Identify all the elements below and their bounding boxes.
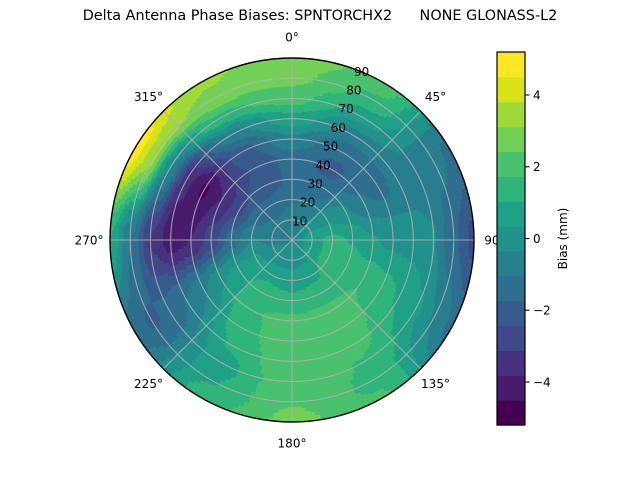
radial-tick-label-90: 90	[354, 65, 369, 79]
radial-tick-label-70: 70	[339, 102, 354, 116]
colorbar-tick-3: 2	[533, 160, 541, 174]
radial-tick-label-30: 30	[308, 177, 323, 191]
figure-canvas: Delta Antenna Phase Biases: SPNTORCHX2 N…	[0, 0, 640, 480]
colorbar-label: Bias (mm)	[556, 208, 570, 270]
polar-grid	[110, 58, 474, 422]
angular-tick-label-315: 315°	[134, 90, 163, 104]
radial-tick-label-20: 20	[300, 196, 315, 210]
angular-tick-label-45: 45°	[425, 90, 446, 104]
angular-tick-label-135: 135°	[421, 377, 450, 391]
angular-tick-label-225: 225°	[134, 377, 163, 391]
radial-tick-label-60: 60	[331, 121, 346, 135]
polar-axes: 0°45°90°135°180°225°270°315°102030405060…	[0, 0, 500, 480]
colorbar-tick-1: −2	[533, 304, 551, 318]
radial-tick-label-40: 40	[315, 158, 330, 172]
colorbar-tick-2: 0	[533, 232, 541, 246]
colorbar-axes: −4−2024Bias (mm)	[490, 0, 640, 480]
radial-tick-label-50: 50	[323, 140, 338, 154]
angular-tick-label-0: 0°	[285, 31, 299, 45]
angular-tick-label-180: 180°	[278, 436, 307, 450]
colorbar-tick-0: −4	[533, 375, 551, 389]
angular-tick-label-270: 270°	[75, 234, 104, 248]
colorbar: −4−2024Bias (mm)	[490, 0, 640, 480]
radial-tick-label-10: 10	[292, 214, 307, 228]
colorbar-tick-4: 4	[533, 88, 541, 102]
polar-plot: 0°45°90°135°180°225°270°315°102030405060…	[0, 0, 500, 480]
colorbar-gradient	[497, 52, 525, 426]
radial-tick-label-80: 80	[346, 84, 361, 98]
